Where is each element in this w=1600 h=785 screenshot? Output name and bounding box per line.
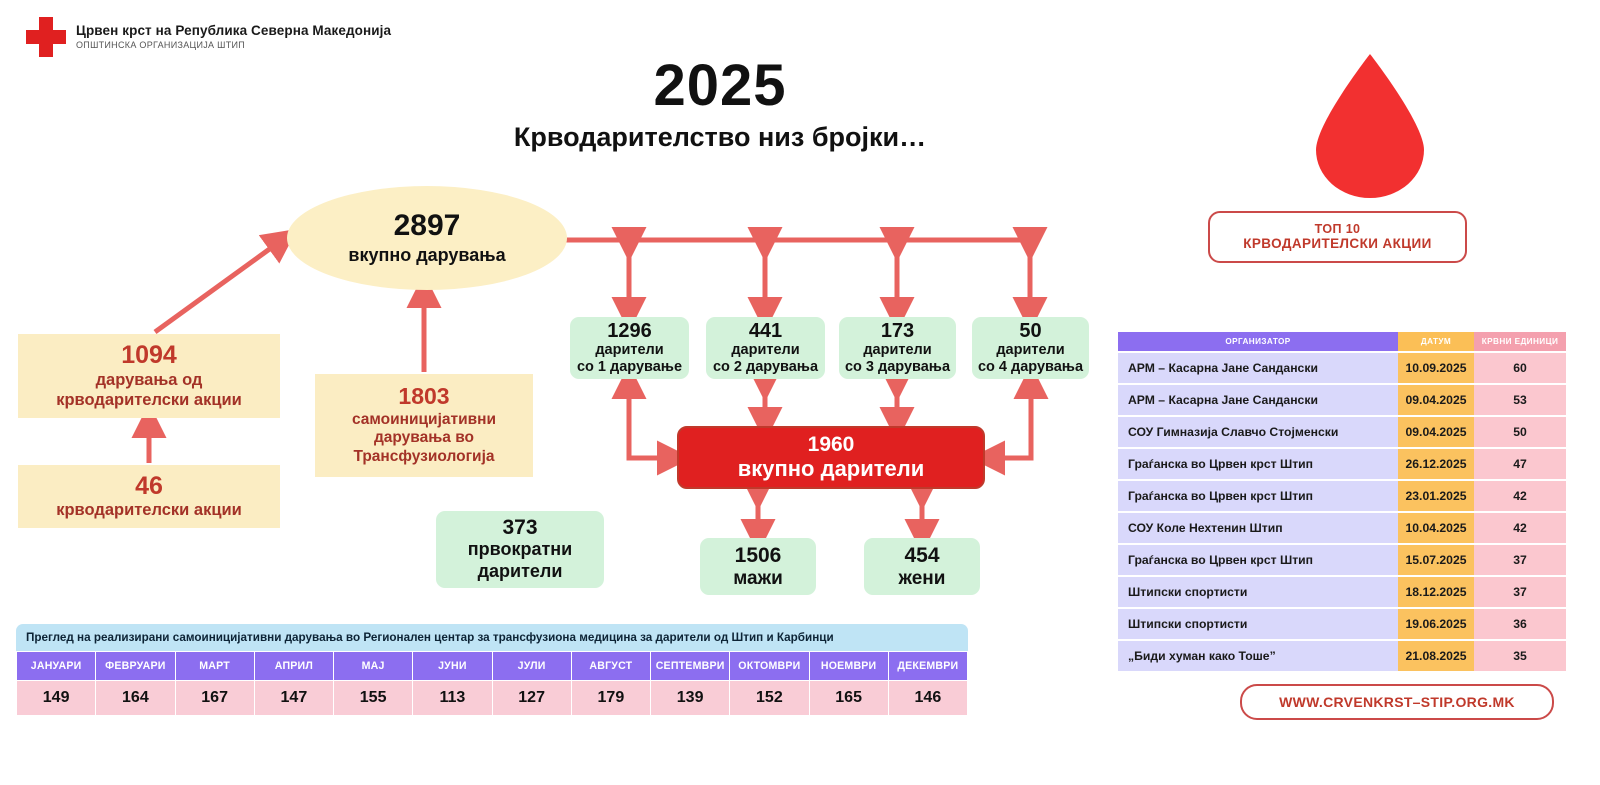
table-row: Граѓанска во Црвен крст Штип23.01.202542 <box>1118 481 1566 511</box>
month-header-8: АВГУСТ <box>571 652 650 681</box>
month-value-9: 139 <box>651 681 730 716</box>
website-label: WWW.CRVENKRST–STIP.ORG.MK <box>1279 694 1515 710</box>
first-time-donors-label-2: дарители <box>468 561 572 583</box>
self-initiated-label-1: самоиницијативни <box>352 411 496 430</box>
top10-cell-units: 36 <box>1474 609 1566 639</box>
node-actions-count: 46 крводарителски акции <box>18 465 280 528</box>
table-row: Штипски спортисти18.12.202537 <box>1118 577 1566 607</box>
top10-cell-organizer: СОУ Коле Нехтенин Штип <box>1118 513 1398 543</box>
first-time-donors-label-1: првократни <box>468 539 572 561</box>
donors-2-label-1: дарители <box>713 342 818 359</box>
top10-cell-date: 09.04.2025 <box>1398 417 1474 447</box>
month-value-5: 155 <box>334 681 413 716</box>
month-value-7: 127 <box>492 681 571 716</box>
node-donors-2-donations: 441 дарители со 2 дарувања <box>706 317 825 379</box>
node-action-donations: 1094 дарувања од крводарителски акции <box>18 334 280 418</box>
top10-cell-organizer: Граѓанска во Црвен крст Штип <box>1118 449 1398 479</box>
blood-drop-icon <box>1295 48 1445 198</box>
month-value-2: 164 <box>96 681 175 716</box>
table-row: СОУ Коле Нехтенин Штип10.04.202542 <box>1118 513 1566 543</box>
month-value-3: 167 <box>175 681 254 716</box>
donors-3-label-1: дарители <box>845 342 950 359</box>
node-total-donors: 1960 вкупно дарители <box>677 426 985 489</box>
months-table-caption: Преглед на реализирани самоиницијативни … <box>16 624 968 651</box>
top10-header-date: ДАТУМ <box>1398 332 1474 351</box>
top10-cell-units: 42 <box>1474 481 1566 511</box>
node-total-donations: 2897 вкупно дарувања <box>287 186 567 290</box>
top10-header-row: ОРГАНИЗАТОР ДАТУМ КРВНИ ЕДИНИЦИ <box>1118 332 1566 351</box>
month-header-5: МАЈ <box>334 652 413 681</box>
top10-cell-units: 37 <box>1474 577 1566 607</box>
month-value-10: 152 <box>730 681 809 716</box>
table-row: АРМ – Касарна Јане Сандански09.04.202553 <box>1118 385 1566 415</box>
first-time-donors-value: 373 <box>502 516 537 539</box>
months-table-header-row: ЈАНУАРИФЕВРУАРИМАРТАПРИЛМАЈЈУНИЈУЛИАВГУС… <box>17 652 968 681</box>
table-row: СОУ Гимназија Славчо Стојменски09.04.202… <box>1118 417 1566 447</box>
self-initiated-label-3: Трансфузиологија <box>352 448 496 467</box>
action-donations-value: 1094 <box>121 342 177 370</box>
top10-cell-date: 19.06.2025 <box>1398 609 1474 639</box>
men-donors-value: 1506 <box>735 544 782 568</box>
table-row: Граѓанска во Црвен крст Штип15.07.202537 <box>1118 545 1566 575</box>
donors-4-label-2: со 4 дарувања <box>978 359 1083 376</box>
month-value-6: 113 <box>413 681 492 716</box>
actions-count-value: 46 <box>135 473 163 501</box>
donors-4-value: 50 <box>1019 320 1041 342</box>
node-first-time-donors: 373 првократни дарители <box>436 511 604 588</box>
top10-cell-date: 15.07.2025 <box>1398 545 1474 575</box>
top10-header-units: КРВНИ ЕДИНИЦИ <box>1474 332 1566 351</box>
month-value-4: 147 <box>254 681 333 716</box>
donors-3-label-2: со 3 дарувања <box>845 359 950 376</box>
top10-cell-date: 10.09.2025 <box>1398 353 1474 383</box>
red-cross-icon <box>26 17 66 57</box>
men-donors-label: мажи <box>733 568 783 589</box>
donors-4-label-1: дарители <box>978 342 1083 359</box>
month-header-9: СЕПТЕМВРИ <box>651 652 730 681</box>
top10-cell-organizer: АРМ – Касарна Јане Сандански <box>1118 353 1398 383</box>
top10-cell-units: 53 <box>1474 385 1566 415</box>
month-value-12: 146 <box>888 681 967 716</box>
women-donors-label: жени <box>899 568 946 589</box>
donors-1-label-2: со 1 дарување <box>577 359 682 376</box>
actions-count-label: крводарителски акции <box>56 501 242 520</box>
month-value-1: 149 <box>17 681 96 716</box>
top10-cell-units: 47 <box>1474 449 1566 479</box>
top10-cell-organizer: АРМ – Касарна Јане Сандански <box>1118 385 1398 415</box>
page-title-year: 2025 <box>560 52 880 119</box>
top10-header-organizer: ОРГАНИЗАТОР <box>1118 332 1398 351</box>
months-table: Преглед на реализирани самоиницијативни … <box>16 624 968 716</box>
top10-cell-organizer: Штипски спортисти <box>1118 609 1398 639</box>
top10-table: ОРГАНИЗАТОР ДАТУМ КРВНИ ЕДИНИЦИ АРМ – Ка… <box>1118 330 1566 673</box>
top10-cell-units: 60 <box>1474 353 1566 383</box>
total-donations-label: вкупно дарувања <box>348 245 505 266</box>
month-header-12: ДЕКЕМВРИ <box>888 652 967 681</box>
top10-cell-units: 35 <box>1474 641 1566 671</box>
donors-2-value: 441 <box>749 320 782 342</box>
month-value-11: 165 <box>809 681 888 716</box>
top10-cell-organizer: „Биди хуман како Тоше” <box>1118 641 1398 671</box>
women-donors-value: 454 <box>904 544 939 568</box>
month-header-1: ЈАНУАРИ <box>17 652 96 681</box>
table-row: „Биди хуман како Тоше”21.08.202535 <box>1118 641 1566 671</box>
node-women-donors: 454 жени <box>864 538 980 595</box>
top10-badge-line2: КРВОДАРИТЕЛСКИ АКЦИИ <box>1243 236 1431 252</box>
total-donors-value: 1960 <box>808 433 855 457</box>
node-men-donors: 1506 мажи <box>700 538 816 595</box>
node-donors-4-donations: 50 дарители со 4 дарувања <box>972 317 1089 379</box>
action-donations-label-1: дарувања од <box>56 370 242 390</box>
month-header-4: АПРИЛ <box>254 652 333 681</box>
table-row: АРМ – Касарна Јане Сандански10.09.202560 <box>1118 353 1566 383</box>
top10-cell-units: 37 <box>1474 545 1566 575</box>
logo-subtitle: ОПШТИНСКА ОРГАНИЗАЦИЈА ШТИП <box>76 41 391 50</box>
top10-cell-date: 10.04.2025 <box>1398 513 1474 543</box>
top10-cell-date: 18.12.2025 <box>1398 577 1474 607</box>
top10-cell-organizer: СОУ Гимназија Славчо Стојменски <box>1118 417 1398 447</box>
action-donations-label-2: крводарителски акции <box>56 390 242 410</box>
total-donors-label: вкупно дарители <box>738 457 925 482</box>
top10-cell-date: 09.04.2025 <box>1398 385 1474 415</box>
self-initiated-value: 1803 <box>398 384 449 409</box>
self-initiated-label-2: дарувања во <box>352 429 496 448</box>
top10-cell-units: 42 <box>1474 513 1566 543</box>
donors-1-label-1: дарители <box>577 342 682 359</box>
top10-cell-date: 21.08.2025 <box>1398 641 1474 671</box>
top10-cell-date: 23.01.2025 <box>1398 481 1474 511</box>
node-donors-3-donations: 173 дарители со 3 дарувања <box>839 317 956 379</box>
node-self-initiated: 1803 самоиницијативни дарувања во Трансф… <box>315 374 533 477</box>
top10-cell-organizer: Граѓанска во Црвен крст Штип <box>1118 545 1398 575</box>
organization-logo: Црвен крст на Република Северна Македони… <box>26 14 426 60</box>
month-header-6: ЈУНИ <box>413 652 492 681</box>
month-header-3: МАРТ <box>175 652 254 681</box>
months-table-value-row: 149164167147155113127179139152165146 <box>17 681 968 716</box>
top10-cell-organizer: Штипски спортисти <box>1118 577 1398 607</box>
top10-badge-line1: ТОП 10 <box>1315 222 1361 237</box>
month-header-2: ФЕВРУАРИ <box>96 652 175 681</box>
month-header-7: ЈУЛИ <box>492 652 571 681</box>
table-row: Граѓанска во Црвен крст Штип26.12.202547 <box>1118 449 1566 479</box>
top10-cell-organizer: Граѓанска во Црвен крст Штип <box>1118 481 1398 511</box>
page-subtitle: Крводарителство низ бројки… <box>400 122 1040 153</box>
month-value-8: 179 <box>571 681 650 716</box>
top10-badge: ТОП 10 КРВОДАРИТЕЛСКИ АКЦИИ <box>1208 211 1467 263</box>
month-header-11: НОЕМВРИ <box>809 652 888 681</box>
table-row: Штипски спортисти19.06.202536 <box>1118 609 1566 639</box>
top10-cell-date: 26.12.2025 <box>1398 449 1474 479</box>
month-header-10: ОКТОМВРИ <box>730 652 809 681</box>
donors-1-value: 1296 <box>607 320 652 342</box>
donors-2-label-2: со 2 дарувања <box>713 359 818 376</box>
top10-cell-units: 50 <box>1474 417 1566 447</box>
website-link[interactable]: WWW.CRVENKRST–STIP.ORG.MK <box>1240 684 1554 720</box>
donors-3-value: 173 <box>881 320 914 342</box>
logo-title: Црвен крст на Република Северна Македони… <box>76 24 391 38</box>
node-donors-1-donation: 1296 дарители со 1 дарување <box>570 317 689 379</box>
total-donations-value: 2897 <box>394 210 461 242</box>
